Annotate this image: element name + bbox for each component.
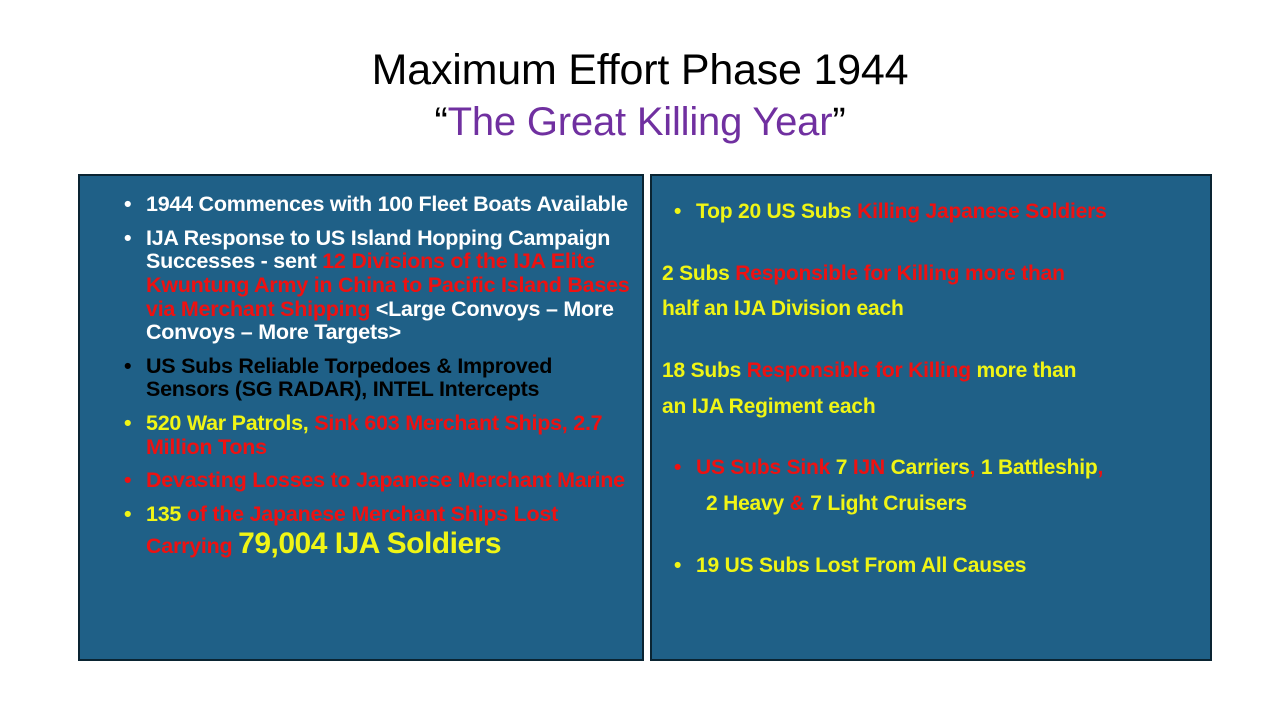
text-segment: & — [790, 492, 805, 515]
subtitle-open-quote: “ — [435, 100, 448, 144]
bullet-point-icon: • — [124, 355, 146, 379]
list-item: •US Subs Sink 7 IJN Carriers, 1 Battlesh… — [662, 450, 1207, 486]
bullet-point-icon: • — [674, 194, 681, 230]
list-item-text: US Subs Reliable Torpedoes & Improved Se… — [102, 355, 632, 402]
left-panel-body: •1944 Commences with 100 Fleet Boats Ava… — [102, 193, 632, 570]
subtitle-close-quote: ” — [832, 100, 845, 144]
text-segment: Carriers — [885, 456, 970, 479]
text-segment: Responsible for Killing — [747, 359, 971, 382]
text-segment: 135 — [146, 502, 187, 526]
bullet-point-icon: • — [124, 193, 146, 217]
text-segment: 7 — [836, 456, 853, 479]
text-segment: 79,004 IJA Soldiers — [238, 527, 501, 560]
text-segment: 18 Subs — [662, 359, 747, 382]
list-item: 2 Subs Responsible for Killing more than — [662, 256, 1207, 292]
text-segment: an IJA Regiment each — [662, 395, 875, 418]
text-segment: 1 Battleship — [975, 456, 1097, 479]
list-item: •IJA Response to US Island Hopping Campa… — [102, 227, 632, 345]
slide-title-block: Maximum Effort Phase 1944 “The Great Kil… — [0, 46, 1280, 146]
text-segment: half an IJA Division each — [662, 297, 904, 320]
bullet-point-icon: • — [674, 450, 681, 486]
text-segment: , — [1097, 456, 1103, 479]
text-segment: 1944 Commences with 100 Fleet Boats Avai… — [146, 192, 628, 216]
left-bullet-list: •1944 Commences with 100 Fleet Boats Ava… — [102, 193, 632, 560]
list-item: half an IJA Division each — [662, 291, 1207, 327]
text-segment: US Subs Sink — [696, 456, 836, 479]
bullet-point-icon: • — [124, 503, 146, 527]
list-item-text: 1944 Commences with 100 Fleet Boats Avai… — [102, 193, 632, 217]
text-segment: Top 20 US Subs — [696, 200, 857, 223]
right-panel-body: •Top 20 US Subs Killing Japanese Soldier… — [662, 194, 1207, 584]
spacer — [662, 327, 1207, 353]
subtitle-text: The Great Killing Year — [448, 100, 833, 144]
right-content-panel: •Top 20 US Subs Killing Japanese Soldier… — [650, 174, 1212, 661]
list-item-text: 135 of the Japanese Merchant Ships Lost … — [102, 503, 632, 560]
bullet-point-icon: • — [124, 412, 146, 436]
text-segment: Devasting Losses to Japanese Merchant Ma… — [146, 468, 625, 492]
spacer — [662, 424, 1207, 450]
text-segment: IJN — [853, 456, 885, 479]
list-item-text: Devasting Losses to Japanese Merchant Ma… — [102, 469, 632, 493]
text-segment: 2 Heavy — [706, 492, 790, 515]
text-segment: 19 US Subs Lost From All Causes — [696, 554, 1026, 577]
bullet-point-icon: • — [674, 548, 681, 584]
text-segment: Killing Japanese Soldiers — [857, 200, 1106, 223]
spacer — [662, 230, 1207, 256]
bullet-point-icon: • — [124, 227, 146, 251]
text-segment: 520 War Patrols, — [146, 411, 314, 435]
text-segment: 2 Subs — [662, 262, 735, 285]
text-segment: more than — [971, 359, 1076, 382]
list-item: •1944 Commences with 100 Fleet Boats Ava… — [102, 193, 632, 217]
spacer — [662, 522, 1207, 548]
list-item: 18 Subs Responsible for Killing more tha… — [662, 353, 1207, 389]
list-item-text: IJA Response to US Island Hopping Campai… — [102, 227, 632, 345]
text-segment: Responsible for Killing more than — [735, 262, 1064, 285]
list-item-text: 520 War Patrols, Sink 603 Merchant Ships… — [102, 412, 632, 459]
page-subtitle: “The Great Killing Year” — [0, 99, 1280, 146]
list-item: 2 Heavy & 7 Light Cruisers — [662, 486, 1207, 522]
list-item: •135 of the Japanese Merchant Ships Lost… — [102, 503, 632, 560]
list-item: •Devasting Losses to Japanese Merchant M… — [102, 469, 632, 493]
bullet-point-icon: • — [124, 469, 146, 493]
list-item: •Top 20 US Subs Killing Japanese Soldier… — [662, 194, 1207, 230]
left-content-panel: •1944 Commences with 100 Fleet Boats Ava… — [78, 174, 644, 661]
page-title: Maximum Effort Phase 1944 — [0, 46, 1280, 95]
list-item: •19 US Subs Lost From All Causes — [662, 548, 1207, 584]
text-segment: 7 Light Cruisers — [805, 492, 967, 515]
list-item: •US Subs Reliable Torpedoes & Improved S… — [102, 355, 632, 402]
list-item: an IJA Regiment each — [662, 389, 1207, 425]
list-item: •520 War Patrols, Sink 603 Merchant Ship… — [102, 412, 632, 459]
text-segment: US Subs Reliable Torpedoes & Improved Se… — [146, 354, 552, 402]
